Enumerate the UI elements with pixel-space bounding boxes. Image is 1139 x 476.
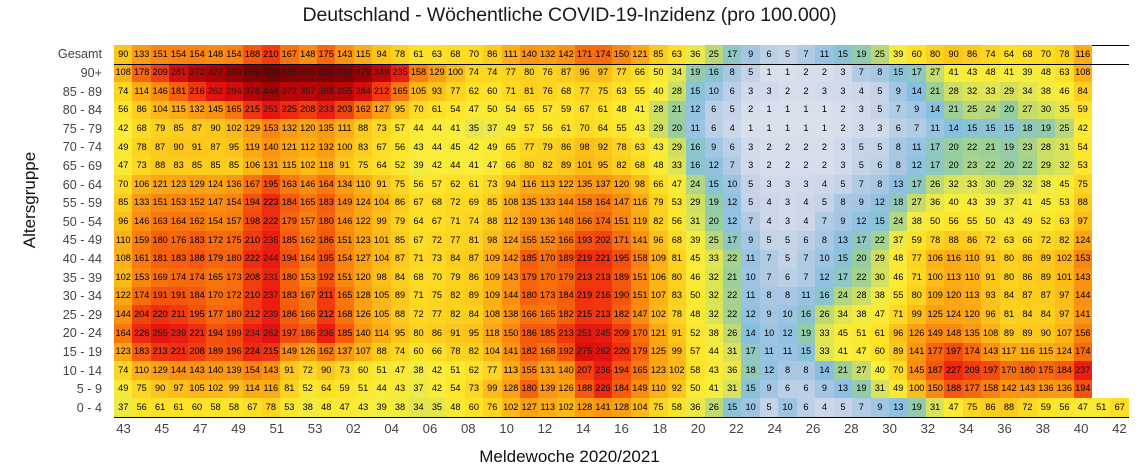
heatmap-cell[interactable]: 93 xyxy=(428,82,446,101)
heatmap-cell[interactable]: 145 xyxy=(206,101,224,120)
heatmap-cell[interactable]: 189 xyxy=(612,268,630,287)
heatmap-cell[interactable]: 6 xyxy=(778,268,796,287)
heatmap-cell[interactable]: 12 xyxy=(686,101,704,120)
heatmap-cell[interactable]: 30 xyxy=(871,268,889,287)
heatmap-cell[interactable]: 190 xyxy=(612,287,630,306)
heatmap-cell[interactable]: 5 xyxy=(778,231,796,250)
heatmap-cell[interactable]: 37 xyxy=(1000,194,1018,213)
heatmap-cell[interactable]: 84 xyxy=(1000,287,1018,306)
heatmap-cell[interactable]: 21 xyxy=(981,138,999,157)
heatmap-cell[interactable]: 112 xyxy=(299,138,317,157)
heatmap-cell[interactable]: 6 xyxy=(705,119,723,138)
heatmap-cell[interactable]: 102 xyxy=(502,398,520,417)
heatmap-cell[interactable]: 68 xyxy=(557,82,575,101)
heatmap-cell[interactable]: 188 xyxy=(188,250,206,269)
heatmap-cell[interactable]: 42 xyxy=(428,157,446,176)
heatmap-cell[interactable]: 9 xyxy=(889,82,907,101)
heatmap-cell[interactable]: 43 xyxy=(1000,212,1018,231)
heatmap-cell[interactable]: 35 xyxy=(465,119,483,138)
heatmap-cell[interactable]: 372 xyxy=(188,64,206,83)
heatmap-cell[interactable]: 115 xyxy=(169,101,187,120)
heatmap-cell[interactable]: 61 xyxy=(557,119,575,138)
heatmap-cell[interactable]: 56 xyxy=(114,101,132,120)
heatmap-cell[interactable]: 135 xyxy=(575,175,593,194)
heatmap-cell[interactable]: 88 xyxy=(391,305,409,324)
heatmap-cell[interactable]: 115 xyxy=(280,157,298,176)
heatmap-cell[interactable]: 220 xyxy=(151,305,169,324)
heatmap-cell[interactable]: 184 xyxy=(557,287,575,306)
heatmap-cell[interactable]: 62 xyxy=(465,361,483,380)
heatmap-cell[interactable]: 81 xyxy=(1000,305,1018,324)
heatmap-cell[interactable]: 96 xyxy=(889,324,907,343)
heatmap-cell[interactable]: 18 xyxy=(889,194,907,213)
heatmap-cell[interactable]: 9 xyxy=(760,380,778,399)
heatmap-cell[interactable]: 197 xyxy=(280,324,298,343)
heatmap-cell[interactable]: 372 xyxy=(280,82,298,101)
heatmap-cell[interactable]: 12 xyxy=(852,212,870,231)
heatmap-cell[interactable]: 116 xyxy=(1018,343,1036,362)
heatmap-cell[interactable]: 91 xyxy=(981,268,999,287)
heatmap-cell[interactable]: 48 xyxy=(612,101,630,120)
heatmap-cell[interactable]: 115 xyxy=(354,45,372,64)
heatmap-cell[interactable]: 96 xyxy=(649,231,667,250)
heatmap-cell[interactable]: 32 xyxy=(705,268,723,287)
heatmap-cell[interactable]: 82 xyxy=(612,157,630,176)
heatmap-cell[interactable]: 19 xyxy=(1000,138,1018,157)
heatmap-cell[interactable]: 32 xyxy=(963,82,981,101)
heatmap-cell[interactable]: 1 xyxy=(815,101,833,120)
heatmap-cell[interactable]: 67 xyxy=(409,194,427,213)
heatmap-cell[interactable]: 175 xyxy=(225,231,243,250)
heatmap-cell[interactable]: 184 xyxy=(612,380,630,399)
heatmap-cell[interactable]: 72 xyxy=(428,231,446,250)
heatmap-cell[interactable]: 86 xyxy=(428,324,446,343)
heatmap-cell[interactable]: 183 xyxy=(169,250,187,269)
heatmap-cell[interactable]: 84 xyxy=(1018,305,1036,324)
heatmap-cell[interactable]: 87 xyxy=(188,119,206,138)
heatmap-cell[interactable]: 165 xyxy=(225,101,243,120)
heatmap-cell[interactable]: 225 xyxy=(280,101,298,120)
heatmap-cell[interactable]: 14 xyxy=(741,324,759,343)
heatmap-cell[interactable]: 118 xyxy=(483,324,501,343)
heatmap-cell[interactable]: 224 xyxy=(243,343,261,362)
heatmap-cell[interactable]: 79 xyxy=(391,212,409,231)
heatmap-cell[interactable]: 5 xyxy=(852,138,870,157)
heatmap-cell[interactable]: 79 xyxy=(446,268,464,287)
heatmap-cell[interactable]: 108 xyxy=(114,64,132,83)
heatmap-cell[interactable]: 127 xyxy=(372,101,390,120)
heatmap-cell[interactable]: 31 xyxy=(686,212,704,231)
heatmap-cell[interactable]: 3 xyxy=(815,82,833,101)
heatmap-cell[interactable]: 5 xyxy=(871,101,889,120)
heatmap-cell[interactable]: 183 xyxy=(132,343,150,362)
heatmap-cell[interactable]: 163 xyxy=(280,175,298,194)
heatmap-cell[interactable]: 8 xyxy=(889,157,907,176)
heatmap-cell[interactable]: 125 xyxy=(926,305,944,324)
heatmap-cell[interactable]: 100 xyxy=(446,64,464,83)
heatmap-cell[interactable]: 143 xyxy=(1074,268,1092,287)
heatmap-cell[interactable]: 6 xyxy=(797,380,815,399)
heatmap-cell[interactable]: 136 xyxy=(538,212,556,231)
heatmap-cell[interactable]: 136 xyxy=(1037,380,1055,399)
heatmap-cell[interactable]: 120 xyxy=(354,268,372,287)
heatmap-cell[interactable]: 80 xyxy=(907,287,925,306)
heatmap-cell[interactable]: 33 xyxy=(815,343,833,362)
heatmap-cell[interactable]: 165 xyxy=(391,82,409,101)
heatmap-cell[interactable]: 239 xyxy=(262,305,280,324)
heatmap-cell[interactable]: 11 xyxy=(741,287,759,306)
heatmap-cell[interactable]: 165 xyxy=(538,305,556,324)
heatmap-cell[interactable]: 61 xyxy=(871,324,889,343)
heatmap-cell[interactable]: 43 xyxy=(391,380,409,399)
heatmap-cell[interactable]: 97 xyxy=(169,380,187,399)
heatmap-cell[interactable]: 102 xyxy=(225,119,243,138)
heatmap-cell[interactable]: 10 xyxy=(778,398,796,417)
heatmap-cell[interactable]: 94 xyxy=(502,175,520,194)
heatmap-cell[interactable]: 38 xyxy=(1037,82,1055,101)
heatmap-cell[interactable]: 47 xyxy=(871,305,889,324)
heatmap-cell[interactable]: 9 xyxy=(815,380,833,399)
heatmap-cell[interactable]: 9 xyxy=(741,45,759,64)
heatmap-cell[interactable]: 97 xyxy=(1055,305,1073,324)
heatmap-cell[interactable]: 9 xyxy=(760,305,778,324)
heatmap-cell[interactable]: 9 xyxy=(705,138,723,157)
heatmap-cell[interactable]: 56 xyxy=(409,175,427,194)
heatmap-cell[interactable]: 45 xyxy=(446,138,464,157)
heatmap-cell[interactable]: 88 xyxy=(483,212,501,231)
heatmap-cell[interactable]: 83 xyxy=(668,287,686,306)
heatmap-cell[interactable]: 46 xyxy=(686,268,704,287)
heatmap-cell[interactable]: 23 xyxy=(1018,138,1036,157)
heatmap-cell[interactable]: 78 xyxy=(926,231,944,250)
heatmap-cell[interactable]: 29 xyxy=(1037,157,1055,176)
heatmap-cell[interactable]: 44 xyxy=(705,343,723,362)
heatmap-cell[interactable]: 10 xyxy=(815,250,833,269)
heatmap-cell[interactable]: 55 xyxy=(889,287,907,306)
heatmap-cell[interactable]: 165 xyxy=(299,194,317,213)
heatmap-cell[interactable]: 9 xyxy=(907,101,925,120)
heatmap-cell[interactable]: 216 xyxy=(188,82,206,101)
heatmap-cell[interactable]: 121 xyxy=(151,175,169,194)
heatmap-cell[interactable]: 111 xyxy=(335,119,353,138)
heatmap-cell[interactable]: 54 xyxy=(502,101,520,120)
heatmap-cell[interactable]: 84 xyxy=(465,305,483,324)
heatmap-cell[interactable]: 6 xyxy=(705,101,723,120)
heatmap-cell[interactable]: 71 xyxy=(446,212,464,231)
heatmap-cell[interactable]: 90 xyxy=(317,361,335,380)
heatmap-cell[interactable]: 227 xyxy=(944,361,962,380)
heatmap-cell[interactable]: 26 xyxy=(705,398,723,417)
heatmap-cell[interactable]: 216 xyxy=(594,287,612,306)
heatmap-cell[interactable]: 163 xyxy=(151,212,169,231)
heatmap-cell[interactable]: 86 xyxy=(391,194,409,213)
heatmap-cell[interactable]: 90 xyxy=(151,380,169,399)
heatmap-cell[interactable]: 129 xyxy=(151,361,169,380)
heatmap-cell[interactable]: 219 xyxy=(575,250,593,269)
heatmap-cell[interactable]: 154 xyxy=(335,250,353,269)
heatmap-cell[interactable]: 170 xyxy=(206,287,224,306)
heatmap-cell[interactable]: 45 xyxy=(834,324,852,343)
heatmap-cell[interactable]: 49 xyxy=(114,380,132,399)
heatmap-cell[interactable]: 99 xyxy=(668,343,686,362)
heatmap-cell[interactable]: 67 xyxy=(1110,398,1129,417)
heatmap-cell[interactable]: 7 xyxy=(797,45,815,64)
heatmap-cell[interactable]: 65 xyxy=(502,138,520,157)
heatmap-cell[interactable]: 124 xyxy=(944,305,962,324)
heatmap-cell[interactable]: 185 xyxy=(538,324,556,343)
heatmap-cell[interactable]: 141 xyxy=(502,343,520,362)
heatmap-cell[interactable]: 226 xyxy=(132,324,150,343)
heatmap-cell[interactable]: 209 xyxy=(151,64,169,83)
heatmap-cell[interactable]: 141 xyxy=(1074,305,1092,324)
heatmap-cell[interactable]: 212 xyxy=(372,82,390,101)
heatmap-cell[interactable]: 172 xyxy=(225,287,243,306)
heatmap-cell[interactable]: 58 xyxy=(686,361,704,380)
heatmap-cell[interactable]: 129 xyxy=(428,64,446,83)
heatmap-cell[interactable]: 82 xyxy=(538,157,556,176)
heatmap-cell[interactable]: 151 xyxy=(631,287,649,306)
heatmap-cell[interactable]: 4 xyxy=(815,398,833,417)
heatmap-cell[interactable]: 73 xyxy=(465,380,483,399)
heatmap-cell[interactable]: 133 xyxy=(538,194,556,213)
heatmap-cell[interactable]: 210 xyxy=(243,287,261,306)
heatmap-cell[interactable]: 76 xyxy=(538,82,556,101)
heatmap-cell[interactable]: 3 xyxy=(778,212,796,231)
heatmap-cell[interactable]: 57 xyxy=(538,101,556,120)
heatmap-cell[interactable]: 128 xyxy=(575,398,593,417)
heatmap-cell[interactable]: 84 xyxy=(391,268,409,287)
heatmap-cell[interactable]: 2 xyxy=(834,101,852,120)
heatmap-cell[interactable]: 5 xyxy=(741,175,759,194)
heatmap-cell[interactable]: 148 xyxy=(299,45,317,64)
heatmap-cell[interactable]: 97 xyxy=(1074,212,1092,231)
heatmap-cell[interactable]: 70 xyxy=(889,361,907,380)
heatmap-cell[interactable]: 237 xyxy=(1074,361,1092,380)
heatmap-cell[interactable]: 85 xyxy=(391,231,409,250)
heatmap-cell[interactable]: 102 xyxy=(668,361,686,380)
heatmap-cell[interactable]: 355 xyxy=(335,82,353,101)
heatmap-cell[interactable]: 43 xyxy=(354,398,372,417)
heatmap-cell[interactable]: 47 xyxy=(483,157,501,176)
heatmap-cell[interactable]: 71 xyxy=(409,250,427,269)
heatmap-cell[interactable]: 32 xyxy=(705,305,723,324)
heatmap-cell[interactable]: 102 xyxy=(557,398,575,417)
heatmap-cell[interactable]: 154 xyxy=(225,45,243,64)
heatmap-cell[interactable]: 165 xyxy=(631,361,649,380)
heatmap-cell[interactable]: 154 xyxy=(206,212,224,231)
heatmap-cell[interactable]: 29 xyxy=(1000,175,1018,194)
heatmap-cell[interactable]: 170 xyxy=(538,250,556,269)
heatmap-cell[interactable]: 86 xyxy=(963,231,981,250)
heatmap-cell[interactable]: 109 xyxy=(483,287,501,306)
heatmap-cell[interactable]: 116 xyxy=(520,175,538,194)
heatmap-cell[interactable]: 262 xyxy=(206,82,224,101)
heatmap-cell[interactable]: 3 xyxy=(760,82,778,101)
heatmap-cell[interactable]: 121 xyxy=(280,138,298,157)
heatmap-cell[interactable]: 170 xyxy=(631,324,649,343)
heatmap-cell[interactable]: 71 xyxy=(409,287,427,306)
heatmap-cell[interactable]: 151 xyxy=(631,268,649,287)
heatmap-cell[interactable]: 7 xyxy=(907,119,925,138)
heatmap-cell[interactable]: 28 xyxy=(852,287,870,306)
heatmap-cell[interactable]: 479 xyxy=(354,64,372,83)
heatmap-cell[interactable]: 70 xyxy=(1037,45,1055,64)
heatmap-cell[interactable]: 4 xyxy=(760,212,778,231)
heatmap-cell[interactable]: 15 xyxy=(963,119,981,138)
heatmap-cell[interactable]: 28 xyxy=(668,82,686,101)
heatmap-cell[interactable]: 104 xyxy=(151,101,169,120)
heatmap-cell[interactable]: 54 xyxy=(446,101,464,120)
heatmap-cell[interactable]: 38 xyxy=(409,361,427,380)
heatmap-cell[interactable]: 49 xyxy=(889,380,907,399)
heatmap-cell[interactable]: 88 xyxy=(372,343,390,362)
heatmap-cell[interactable]: 48 xyxy=(1037,64,1055,83)
heatmap-cell[interactable]: 47 xyxy=(1074,398,1092,417)
heatmap-cell[interactable]: 6 xyxy=(760,45,778,64)
heatmap-cell[interactable]: 57 xyxy=(686,343,704,362)
heatmap-cell[interactable]: 22 xyxy=(871,231,889,250)
heatmap-cell[interactable]: 75 xyxy=(428,287,446,306)
heatmap-cell[interactable]: 26 xyxy=(723,324,741,343)
heatmap-cell[interactable]: 17 xyxy=(907,175,925,194)
heatmap-cell[interactable]: 91 xyxy=(280,361,298,380)
heatmap-cell[interactable]: 5 xyxy=(778,45,796,64)
heatmap-cell[interactable]: 124 xyxy=(1074,231,1092,250)
heatmap-cell[interactable]: 75 xyxy=(1074,175,1092,194)
heatmap-cell[interactable]: 199 xyxy=(225,324,243,343)
heatmap-cell[interactable]: 1 xyxy=(797,101,815,120)
heatmap-cell[interactable]: 18 xyxy=(741,361,759,380)
heatmap-cell[interactable]: 60 xyxy=(465,398,483,417)
heatmap-cell[interactable]: 59 xyxy=(1037,398,1055,417)
heatmap-cell[interactable]: 88 xyxy=(944,231,962,250)
heatmap-cell[interactable]: 143 xyxy=(981,343,999,362)
heatmap-cell[interactable]: 50 xyxy=(926,212,944,231)
heatmap-cell[interactable]: 90 xyxy=(169,138,187,157)
heatmap-cell[interactable]: 95 xyxy=(594,157,612,176)
heatmap-cell[interactable]: 175 xyxy=(1037,361,1055,380)
heatmap-cell[interactable]: 177 xyxy=(206,305,224,324)
heatmap-cell[interactable]: 110 xyxy=(963,268,981,287)
heatmap-cell[interactable]: 2 xyxy=(760,138,778,157)
heatmap-cell[interactable]: 186 xyxy=(317,231,335,250)
heatmap-cell[interactable]: 146 xyxy=(132,212,150,231)
heatmap-cell[interactable]: 61 xyxy=(169,398,187,417)
heatmap-cell[interactable]: 234 xyxy=(243,324,261,343)
heatmap-cell[interactable]: 194 xyxy=(280,250,298,269)
heatmap-cell[interactable]: 2 xyxy=(760,157,778,176)
heatmap-cell[interactable]: 38 xyxy=(907,212,925,231)
heatmap-cell[interactable]: 8 xyxy=(723,64,741,83)
heatmap-cell[interactable]: 49 xyxy=(483,138,501,157)
heatmap-cell[interactable]: 39 xyxy=(686,231,704,250)
heatmap-cell[interactable]: 51 xyxy=(372,361,390,380)
heatmap-cell[interactable]: 15 xyxy=(981,119,999,138)
heatmap-cell[interactable]: 164 xyxy=(317,175,335,194)
heatmap-cell[interactable]: 131 xyxy=(538,361,556,380)
heatmap-cell[interactable]: 74 xyxy=(114,361,132,380)
heatmap-cell[interactable]: 636 xyxy=(280,64,298,83)
heatmap-cell[interactable]: 262 xyxy=(262,324,280,343)
heatmap-cell[interactable]: 148 xyxy=(944,324,962,343)
heatmap-cell[interactable]: 87 xyxy=(557,64,575,83)
heatmap-cell[interactable]: 75 xyxy=(963,398,981,417)
heatmap-cell[interactable]: 43 xyxy=(963,194,981,213)
heatmap-cell[interactable]: 5 xyxy=(723,101,741,120)
heatmap-cell[interactable]: 127 xyxy=(354,250,372,269)
heatmap-cell[interactable]: 175 xyxy=(317,45,335,64)
heatmap-cell[interactable]: 51 xyxy=(1092,398,1110,417)
heatmap-cell[interactable]: 152 xyxy=(538,231,556,250)
heatmap-cell[interactable]: 209 xyxy=(612,324,630,343)
heatmap-cell[interactable]: 154 xyxy=(188,45,206,64)
heatmap-cell[interactable]: 83 xyxy=(169,157,187,176)
heatmap-cell[interactable]: 66 xyxy=(428,343,446,362)
heatmap-cell[interactable]: 141 xyxy=(907,343,925,362)
heatmap-cell[interactable]: 29 xyxy=(649,119,667,138)
heatmap-cell[interactable]: 113 xyxy=(538,175,556,194)
heatmap-cell[interactable]: 13 xyxy=(834,380,852,399)
heatmap-cell[interactable]: 80 xyxy=(668,268,686,287)
heatmap-cell[interactable]: 105 xyxy=(188,380,206,399)
heatmap-cell[interactable]: 189 xyxy=(557,250,575,269)
heatmap-cell[interactable]: 24 xyxy=(834,287,852,306)
heatmap-cell[interactable]: 41 xyxy=(446,119,464,138)
heatmap-cell[interactable]: 179 xyxy=(206,250,224,269)
heatmap-cell[interactable]: 86 xyxy=(1018,268,1036,287)
heatmap-cell[interactable]: 144 xyxy=(557,194,575,213)
heatmap-cell[interactable]: 6 xyxy=(889,119,907,138)
heatmap-cell[interactable]: 43 xyxy=(649,138,667,157)
heatmap-cell[interactable]: 11 xyxy=(815,45,833,64)
heatmap-cell[interactable]: 43 xyxy=(705,361,723,380)
heatmap-cell[interactable]: 82 xyxy=(1055,231,1073,250)
heatmap-cell[interactable]: 349 xyxy=(372,64,390,83)
heatmap-cell[interactable]: 85 xyxy=(483,194,501,213)
heatmap-cell[interactable]: 3 xyxy=(852,101,870,120)
heatmap-cell[interactable]: 20 xyxy=(944,157,962,176)
heatmap-cell[interactable]: 186 xyxy=(299,324,317,343)
heatmap-cell[interactable]: 25 xyxy=(963,101,981,120)
heatmap-cell[interactable]: 98 xyxy=(372,268,390,287)
heatmap-cell[interactable]: 16 xyxy=(686,157,704,176)
heatmap-cell[interactable]: 197 xyxy=(944,343,962,362)
heatmap-cell[interactable]: 208 xyxy=(188,343,206,362)
heatmap-cell[interactable]: 87 xyxy=(1018,287,1036,306)
heatmap-cell[interactable]: 36 xyxy=(926,194,944,213)
heatmap-cell[interactable]: 75 xyxy=(391,175,409,194)
heatmap-cell[interactable]: 5 xyxy=(760,398,778,417)
heatmap-cell[interactable]: 102 xyxy=(649,305,667,324)
heatmap-cell[interactable]: 180 xyxy=(520,287,538,306)
heatmap-cell[interactable]: 150 xyxy=(926,380,944,399)
heatmap-cell[interactable]: 71 xyxy=(907,268,925,287)
heatmap-cell[interactable]: 66 xyxy=(502,157,520,176)
heatmap-cell[interactable]: 171 xyxy=(612,231,630,250)
heatmap-cell[interactable]: 115 xyxy=(1037,343,1055,362)
heatmap-cell[interactable]: 110 xyxy=(354,175,372,194)
heatmap-cell[interactable]: 73 xyxy=(372,119,390,138)
heatmap-cell[interactable]: 140 xyxy=(206,361,224,380)
heatmap-cell[interactable]: 237 xyxy=(262,287,280,306)
heatmap-cell[interactable]: 3 xyxy=(834,138,852,157)
heatmap-cell[interactable]: 5 xyxy=(778,250,796,269)
heatmap-cell[interactable]: 91 xyxy=(372,175,390,194)
heatmap-cell[interactable]: 222 xyxy=(243,250,261,269)
heatmap-cell[interactable]: 17 xyxy=(834,268,852,287)
heatmap-cell[interactable]: 39 xyxy=(889,45,907,64)
heatmap-cell[interactable]: 47 xyxy=(391,361,409,380)
